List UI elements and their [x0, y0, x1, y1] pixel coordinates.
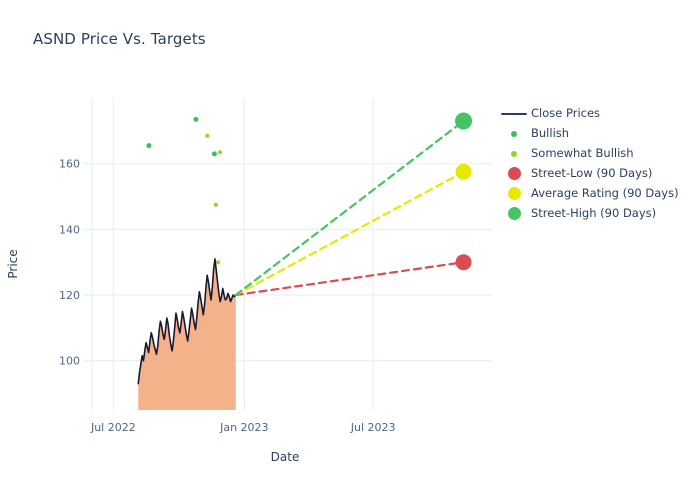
chart-container: ASND Price Vs. Targets 100120140160Jul 2…: [0, 0, 700, 500]
svg-text:120: 120: [59, 289, 80, 302]
svg-text:140: 140: [59, 223, 80, 236]
y-axis-title: Price: [6, 249, 20, 278]
legend-dot-small-icon: [497, 131, 531, 137]
legend-item-0[interactable]: Close Prices: [497, 104, 693, 123]
legend-marker-glyph: [508, 167, 521, 180]
legend-item-3[interactable]: Street-Low (90 Days): [497, 164, 693, 183]
legend-marker-glyph: [511, 131, 517, 137]
x-axis-title: Date: [271, 450, 300, 464]
plot-area: 100120140160Jul 2022Jan 2023Jul 2023 Dat…: [0, 0, 700, 500]
legend-item-5[interactable]: Street-High (90 Days): [497, 204, 693, 223]
target-dashed-lines: [236, 121, 464, 295]
legend-item-label: Somewhat Bullish: [531, 144, 634, 163]
legend-item-label: Bullish: [531, 124, 569, 143]
svg-text:Jul 2023: Jul 2023: [350, 421, 396, 434]
legend-marker-glyph: [508, 187, 521, 200]
scatter-points: [146, 117, 222, 264]
legend-item-4[interactable]: Average Rating (90 Days): [497, 184, 693, 203]
legend-dot-large-icon: [497, 187, 531, 200]
legend-item-1[interactable]: Bullish: [497, 124, 693, 143]
svg-text:Jul 2022: Jul 2022: [90, 421, 136, 434]
legend-marker-glyph: [511, 151, 517, 157]
legend-marker-glyph: [508, 207, 521, 220]
legend-item-2[interactable]: Somewhat Bullish: [497, 144, 693, 163]
legend-item-label: Average Rating (90 Days): [531, 184, 679, 203]
svg-text:Jan 2023: Jan 2023: [219, 421, 268, 434]
legend-dot-small-icon: [497, 151, 531, 157]
legend-line-icon: [497, 113, 531, 115]
legend-dot-large-icon: [497, 207, 531, 220]
legend-item-label: Close Prices: [531, 104, 600, 123]
chart-legend: Close PricesBullishSomewhat BullishStree…: [497, 104, 693, 224]
legend-item-label: Street-High (90 Days): [531, 204, 656, 223]
svg-text:100: 100: [59, 355, 80, 368]
legend-dot-large-icon: [497, 167, 531, 180]
legend-marker-glyph: [501, 113, 527, 115]
svg-text:160: 160: [59, 158, 80, 171]
legend-item-label: Street-Low (90 Days): [531, 164, 652, 183]
target-markers: [455, 112, 472, 270]
